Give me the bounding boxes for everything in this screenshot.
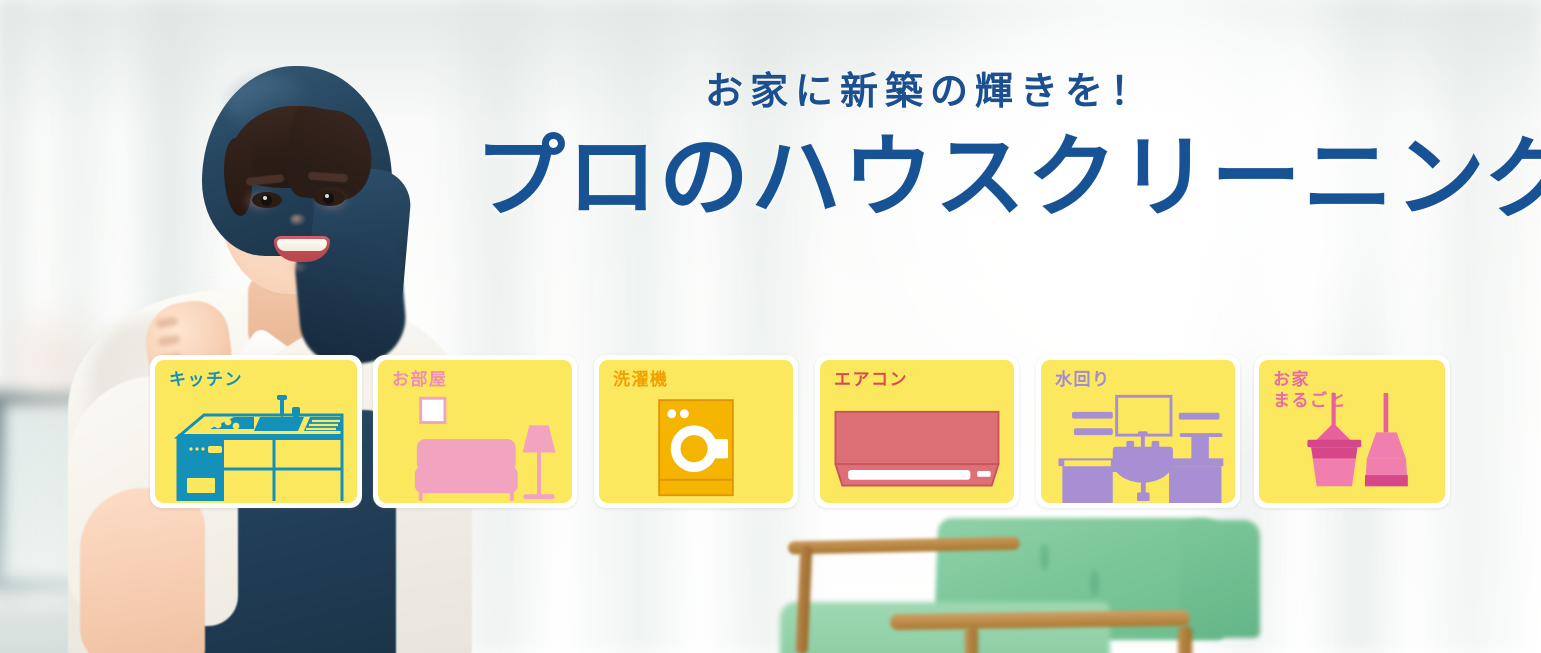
- model-teeth: [277, 239, 327, 251]
- sub-headline: お家に新築の輝きを！: [475, 72, 1385, 114]
- card-label-bathroom: 水回り: [1055, 369, 1111, 390]
- service-card-room[interactable]: お部屋: [373, 355, 577, 508]
- model-eye-glint-left: [263, 196, 267, 200]
- service-card-bathroom[interactable]: 水回り: [1036, 355, 1240, 508]
- sofa-leg: [965, 626, 978, 653]
- sofa-tuft: [1090, 570, 1099, 596]
- air-conditioner-icon: [820, 393, 1014, 503]
- card-surface: キッチン: [155, 360, 357, 503]
- background-green-sofa: [760, 498, 1280, 653]
- hero-banner: お家に新築の輝きを！ プロのハウスクリーニング キッチン: [0, 0, 1541, 653]
- card-label-kitchen: キッチン: [169, 369, 243, 390]
- bathroom-vanity-icon: [1041, 393, 1235, 503]
- broom-dustpan-icon: [1259, 393, 1445, 503]
- service-card-washer[interactable]: 洗濯機: [594, 355, 798, 508]
- headline-block: お家に新築の輝きを！ プロのハウスクリーニング: [475, 72, 1385, 226]
- sofa-tuft: [1040, 544, 1049, 570]
- sofa-lamp-icon: [378, 393, 572, 503]
- model-chin: [286, 262, 308, 272]
- sofa-backrest-right: [1180, 520, 1260, 638]
- service-card-kitchen[interactable]: キッチン: [150, 355, 362, 508]
- card-label-room: お部屋: [392, 369, 448, 390]
- model-photo: [60, 18, 480, 653]
- sofa-leg: [1178, 626, 1192, 653]
- card-surface: エアコン: [820, 360, 1014, 503]
- service-card-aircon[interactable]: エアコン: [815, 355, 1019, 508]
- service-card-whole-house[interactable]: お家 まるごと: [1254, 355, 1450, 508]
- dustpan: [1307, 393, 1361, 486]
- main-headline: プロのハウスクリーニング: [475, 132, 1385, 227]
- card-surface: お部屋: [378, 360, 572, 503]
- card-surface: お家 まるごと: [1259, 360, 1445, 503]
- kitchen-counter-icon: [155, 393, 357, 503]
- card-surface: 洗濯機: [599, 360, 793, 503]
- card-label-aircon: エアコン: [834, 369, 908, 390]
- service-card-row: キッチン: [150, 355, 1450, 515]
- broom: [1365, 393, 1408, 486]
- washing-machine-icon: [599, 393, 793, 503]
- card-surface: 水回り: [1041, 360, 1235, 503]
- model-nose: [290, 214, 306, 226]
- model-eye-glint-right: [325, 194, 329, 198]
- card-label-washer: 洗濯機: [613, 369, 669, 390]
